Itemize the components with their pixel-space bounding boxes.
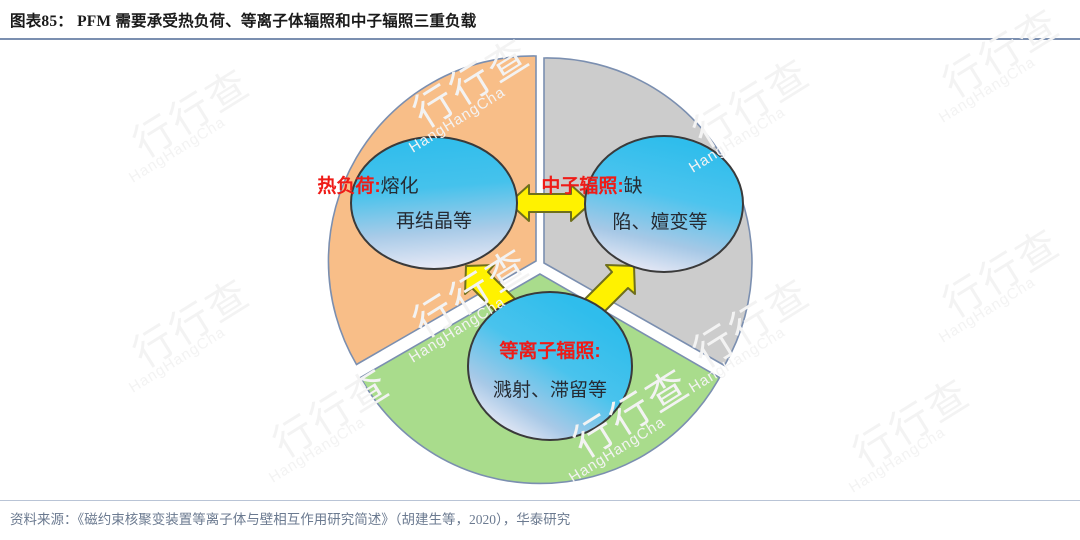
node-thermal-load-title: 热负荷: [317, 174, 380, 197]
node-thermal-load-line1: 热负荷:熔化 [317, 174, 418, 197]
node-neutron-irradiation-line2: 陷、嬗变等 [612, 211, 707, 233]
diagram-container: 热负荷:熔化 再结晶等 中子辐照:缺 陷、嬗变等 等离子辐照: 溅射、滞留等 [0, 44, 1080, 500]
node-neutron-irradiation-title: 中子辐照: [541, 174, 623, 197]
source-note: 资料来源：《磁约束核聚变装置等离子体与壁相互作用研究简述》（胡建生等，2020）… [10, 508, 570, 528]
node-neutron-irradiation-body1: 缺 [624, 175, 643, 197]
page-title: 图表85： PFM 需要承受热负荷、等离子体辐照和中子辐照三重负载 [10, 9, 1080, 31]
title-divider [0, 38, 1080, 40]
node-thermal-load-body1: 熔化 [381, 175, 419, 197]
node-neutron-irradiation-line1: 中子辐照:缺 [541, 174, 642, 197]
node-plasma-irradiation-title: 等离子辐照: [498, 339, 600, 362]
node-plasma-irradiation-circle[interactable] [468, 292, 632, 440]
node-plasma-irradiation-line2: 溅射、滞留等 [493, 379, 607, 401]
node-neutron-irradiation-circle[interactable] [585, 136, 743, 272]
footer-divider [0, 500, 1080, 501]
three-load-pie-diagram: 热负荷:熔化 再结晶等 中子辐照:缺 陷、嬗变等 等离子辐照: 溅射、滞留等 [0, 44, 1080, 500]
node-thermal-load-circle[interactable] [351, 137, 517, 269]
node-plasma-irradiation[interactable]: 等离子辐照: 溅射、滞留等 [468, 292, 632, 440]
node-thermal-load-line2: 再结晶等 [396, 210, 472, 232]
